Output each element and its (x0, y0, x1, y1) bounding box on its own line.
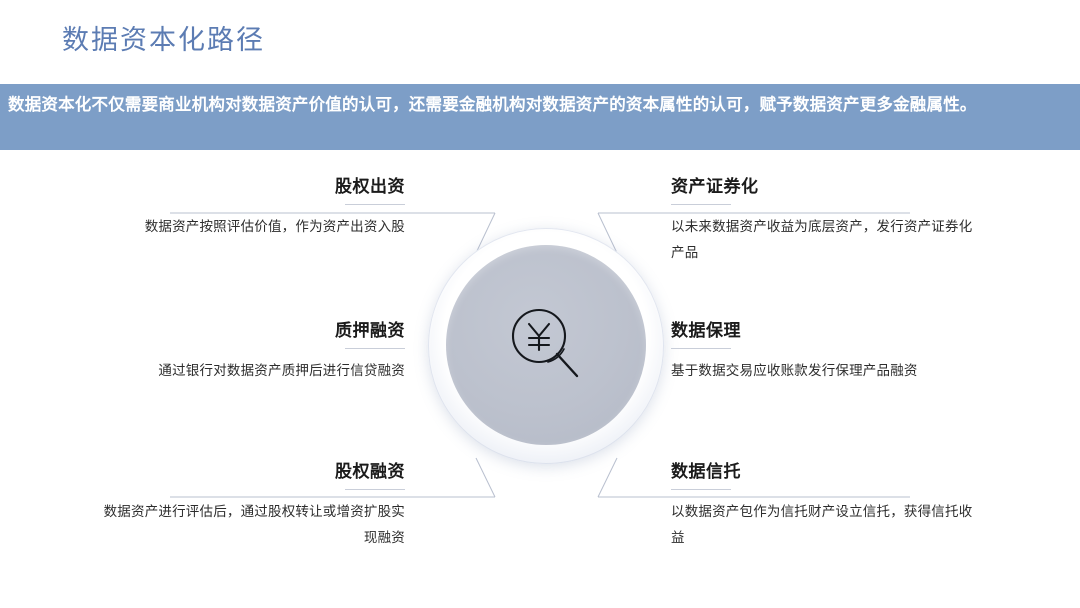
item-title: 数据保理 (671, 320, 981, 342)
item-title: 股权出资 (95, 176, 405, 198)
item-rule (345, 204, 405, 205)
item-title: 资产证券化 (671, 176, 981, 198)
item-body: 基于数据交易应收账款发行保理产品融资 (671, 358, 981, 384)
path-item-data-trust: 数据信托 以数据资产包作为信托财产设立信托，获得信托收益 (671, 461, 981, 551)
item-title: 股权融资 (95, 461, 405, 483)
path-item-equity-financing: 股权融资 数据资产进行评估后，通过股权转让或增资扩股实现融资 (95, 461, 405, 551)
inner-disc (446, 245, 646, 445)
page-title: 数据资本化路径 (62, 18, 265, 57)
item-rule (671, 204, 731, 205)
item-body: 通过银行对数据资产质押后进行信贷融资 (95, 358, 405, 384)
item-body: 数据资产按照评估价值，作为资产出资入股 (95, 214, 405, 240)
path-item-data-factoring: 数据保理 基于数据交易应收账款发行保理产品融资 (671, 320, 981, 384)
item-rule (671, 348, 731, 349)
item-title: 数据信托 (671, 461, 981, 483)
item-rule (345, 348, 405, 349)
item-body: 以数据资产包作为信托财产设立信托，获得信托收益 (671, 499, 981, 551)
path-item-securitization: 资产证券化 以未来数据资产收益为底层资产，发行资产证券化产品 (671, 176, 981, 266)
item-title: 质押融资 (95, 320, 405, 342)
path-item-equity-investment: 股权出资 数据资产按照评估价值，作为资产出资入股 (95, 176, 405, 240)
summary-banner: 数据资本化不仅需要商业机构对数据资产价值的认可，还需要金融机构对数据资产的资本属… (0, 84, 1080, 150)
item-body: 以未来数据资产收益为底层资产，发行资产证券化产品 (671, 214, 981, 266)
item-body: 数据资产进行评估后，通过股权转让或增资扩股实现融资 (95, 499, 405, 551)
item-rule (671, 489, 731, 490)
magnifier-yuan-icon (501, 300, 591, 390)
summary-banner-text: 数据资本化不仅需要商业机构对数据资产价值的认可，还需要金融机构对数据资产的资本属… (8, 93, 1072, 118)
item-rule (345, 489, 405, 490)
center-graphic (418, 218, 674, 470)
path-item-pledge-financing: 质押融资 通过银行对数据资产质押后进行信贷融资 (95, 320, 405, 384)
